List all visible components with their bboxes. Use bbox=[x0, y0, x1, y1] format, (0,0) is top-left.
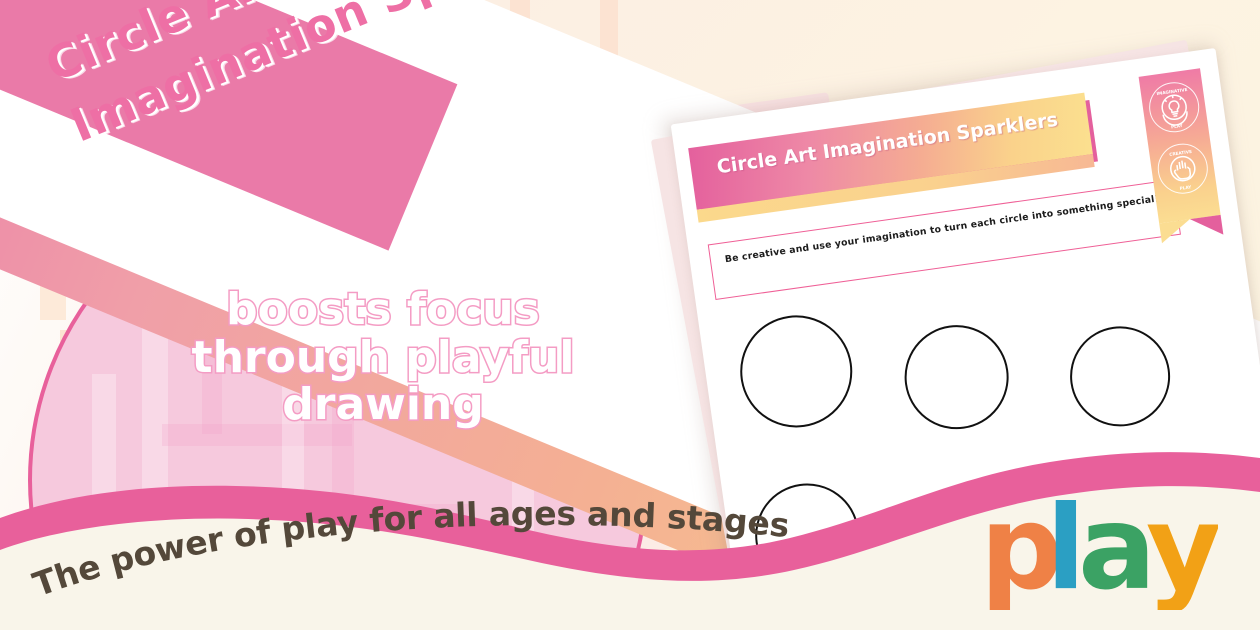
promo-banner: Circle Art Imagination Sparklers boosts … bbox=[0, 0, 1260, 630]
badge-creative-play: CREATIVE PLAY bbox=[1155, 140, 1211, 196]
badge-imaginative-play: IMAGINATIVE PLAY bbox=[1146, 79, 1202, 135]
badge-bottom-text: PLAY bbox=[1171, 123, 1184, 130]
tagline-text: The power of play for all ages and stage… bbox=[28, 494, 791, 604]
hand-icon bbox=[1169, 155, 1196, 182]
subheadline-line-2: through playful bbox=[188, 334, 578, 382]
play-logo: p l a y bbox=[978, 490, 1218, 610]
badge-top-text: CREATIVE bbox=[1169, 149, 1192, 157]
logo-letter-a: a bbox=[1078, 490, 1156, 610]
badge-bottom-text: PLAY bbox=[1179, 184, 1192, 191]
subheadline-line-1: boosts focus bbox=[188, 286, 578, 334]
tagline: The power of play for all ages and stage… bbox=[0, 482, 1000, 622]
logo-letter-y: y bbox=[1146, 490, 1218, 610]
lightbulb-icon bbox=[1161, 94, 1189, 127]
